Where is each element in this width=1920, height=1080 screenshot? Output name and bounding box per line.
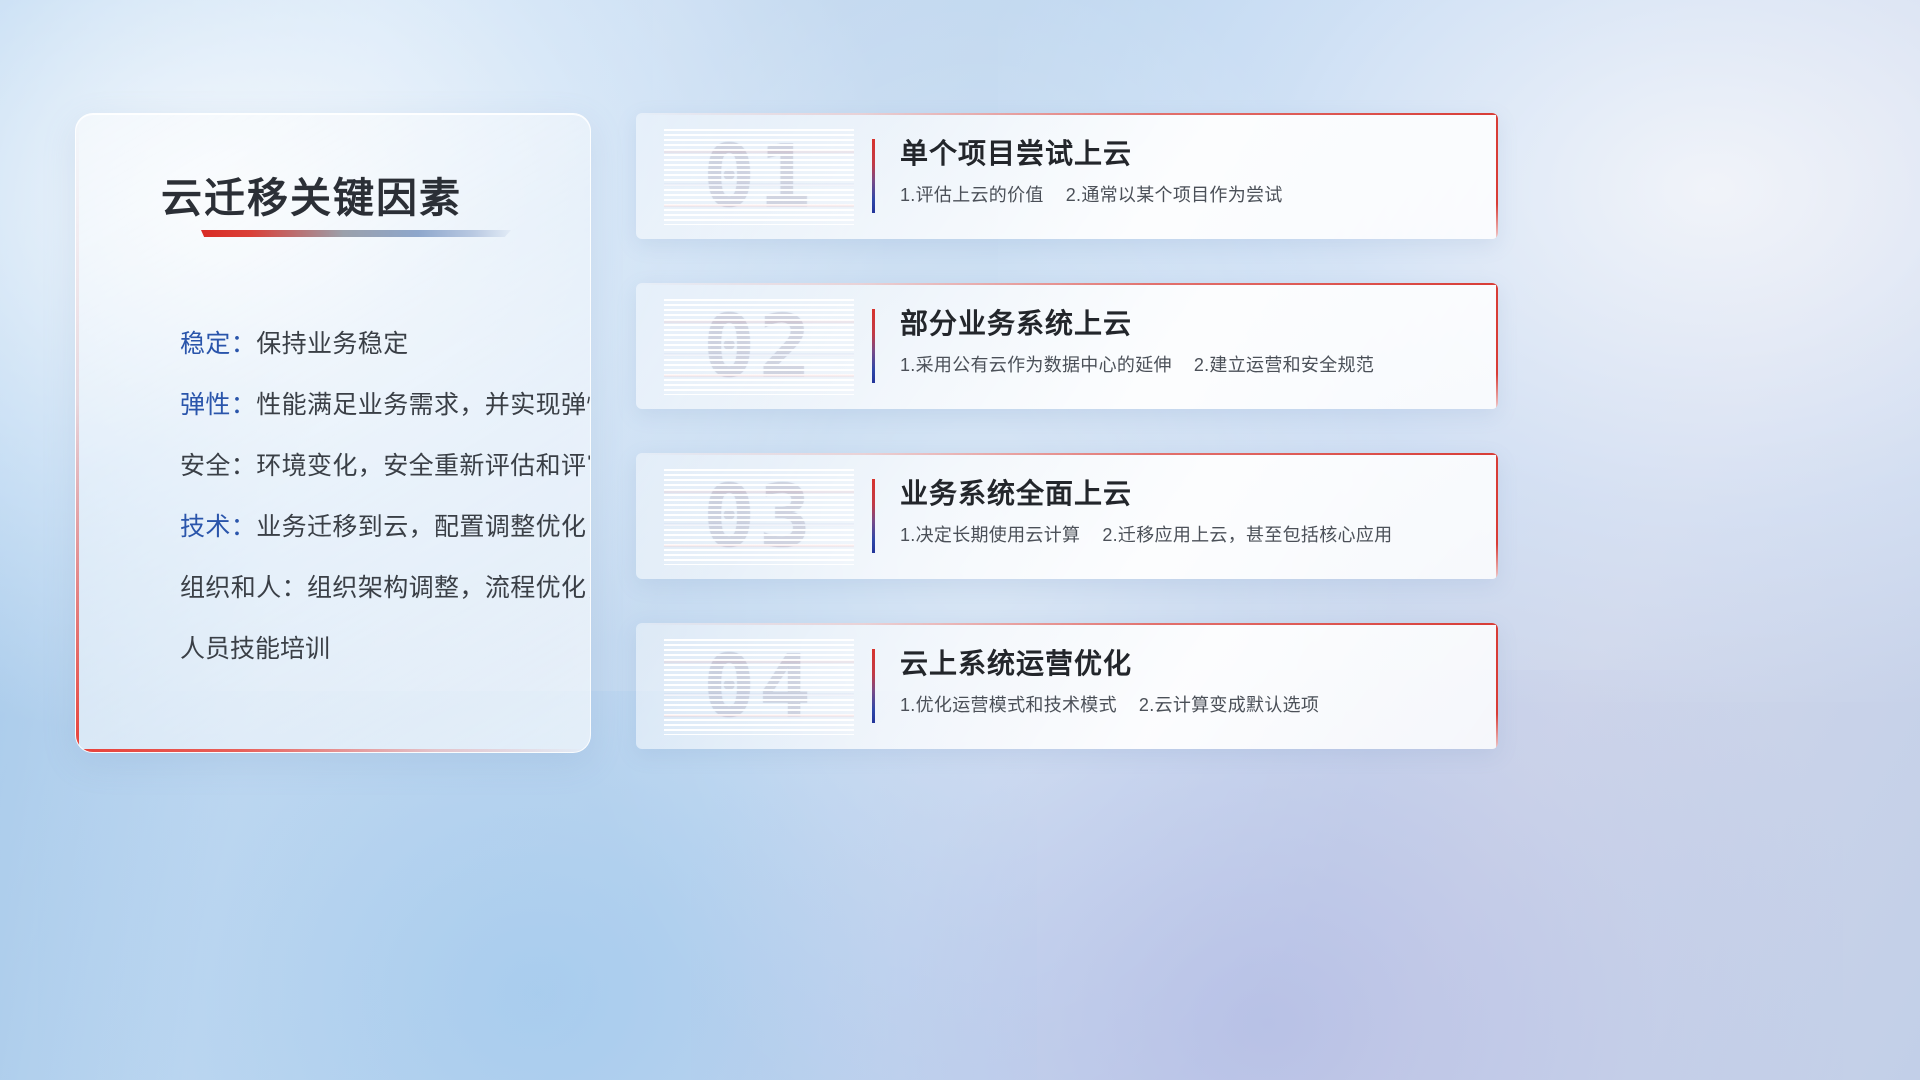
factor-item-security: 安全：环境变化，安全重新评估和评审 — [180, 436, 580, 497]
factor-item-organization: 组织和人：组织架构调整，流程优化， — [180, 558, 580, 619]
factor-value: 环境变化，安全重新评估和评审 — [256, 452, 591, 480]
factor-label: 弹性： — [180, 391, 256, 419]
stage-divider-bar — [872, 309, 875, 383]
factor-label: 稳定： — [180, 330, 256, 358]
slide-content: 云迁移关键因素 稳定：保持业务稳定 弹性：性能满足业务需求，并实现弹性 安全：环… — [0, 0, 1920, 1080]
factor-value: 保持业务稳定 — [256, 330, 408, 358]
stage-card-body: 业务系统全面上云 1.决定长期使用云计算2.迁移应用上云，甚至包括核心应用 — [900, 473, 1470, 549]
stage-card-body: 云上系统运营优化 1.优化运营模式和技术模式2.云计算变成默认选项 — [900, 643, 1470, 719]
stage-number-04: 04 — [664, 639, 854, 735]
factor-label: 组织和人： — [180, 574, 307, 602]
factor-label: 安全： — [180, 452, 256, 480]
factor-value: 组织架构调整，流程优化， — [307, 574, 591, 602]
stage-title: 业务系统全面上云 — [900, 473, 1470, 515]
stage-title: 单个项目尝试上云 — [900, 133, 1470, 175]
stage-point-1: 1.决定长期使用云计算 — [900, 525, 1080, 545]
stage-point-2: 2.建立运营和安全规范 — [1194, 355, 1374, 375]
stage-number-03: 03 — [664, 469, 854, 565]
factor-item-elasticity: 弹性：性能满足业务需求，并实现弹性 — [180, 375, 580, 436]
stage-card-03[interactable]: 03 业务系统全面上云 1.决定长期使用云计算2.迁移应用上云，甚至包括核心应用 — [636, 453, 1498, 579]
stage-divider-bar — [872, 139, 875, 213]
stage-title: 部分业务系统上云 — [900, 303, 1470, 345]
stage-points: 1.评估上云的价值2.通常以某个项目作为尝试 — [900, 181, 1470, 209]
factor-value: 业务迁移到云，配置调整优化 — [256, 513, 586, 541]
factor-item-technology: 技术：业务迁移到云，配置调整优化 — [180, 497, 580, 558]
stage-card-body: 单个项目尝试上云 1.评估上云的价值2.通常以某个项目作为尝试 — [900, 133, 1470, 209]
title-underline-gradient — [201, 230, 511, 237]
factor-value: 性能满足业务需求，并实现弹性 — [256, 391, 591, 419]
key-factors-panel: 云迁移关键因素 稳定：保持业务稳定 弹性：性能满足业务需求，并实现弹性 安全：环… — [75, 113, 591, 753]
stage-number-01: 01 — [664, 129, 854, 225]
stage-card-01[interactable]: 01 单个项目尝试上云 1.评估上云的价值2.通常以某个项目作为尝试 — [636, 113, 1498, 239]
stage-point-2: 2.通常以某个项目作为尝试 — [1066, 185, 1283, 205]
factor-label: 技术： — [180, 513, 256, 541]
stage-divider-bar — [872, 649, 875, 723]
stage-card-04[interactable]: 04 云上系统运营优化 1.优化运营模式和技术模式2.云计算变成默认选项 — [636, 623, 1498, 749]
stage-point-2: 2.云计算变成默认选项 — [1139, 695, 1319, 715]
stage-point-1: 1.采用公有云作为数据中心的延伸 — [900, 355, 1172, 375]
factor-item-stability: 稳定：保持业务稳定 — [180, 314, 580, 375]
stage-point-1: 1.评估上云的价值 — [900, 185, 1044, 205]
stage-card-02[interactable]: 02 部分业务系统上云 1.采用公有云作为数据中心的延伸2.建立运营和安全规范 — [636, 283, 1498, 409]
stage-title: 云上系统运营优化 — [900, 643, 1470, 685]
migration-stage-cards: 01 单个项目尝试上云 1.评估上云的价值2.通常以某个项目作为尝试 02 部分… — [636, 113, 1498, 793]
factor-item-organization-continued: 人员技能培训 — [180, 619, 580, 680]
stage-point-2: 2.迁移应用上云，甚至包括核心应用 — [1102, 525, 1392, 545]
stage-point-1: 1.优化运营模式和技术模式 — [900, 695, 1117, 715]
stage-divider-bar — [872, 479, 875, 553]
stage-points: 1.采用公有云作为数据中心的延伸2.建立运营和安全规范 — [900, 351, 1470, 379]
key-factors-list: 稳定：保持业务稳定 弹性：性能满足业务需求，并实现弹性 安全：环境变化，安全重新… — [180, 314, 580, 680]
stage-number-02: 02 — [664, 299, 854, 395]
stage-points: 1.优化运营模式和技术模式2.云计算变成默认选项 — [900, 691, 1470, 719]
stage-points: 1.决定长期使用云计算2.迁移应用上云，甚至包括核心应用 — [900, 521, 1470, 549]
page-title: 云迁移关键因素 — [161, 164, 462, 224]
stage-card-body: 部分业务系统上云 1.采用公有云作为数据中心的延伸2.建立运营和安全规范 — [900, 303, 1470, 379]
